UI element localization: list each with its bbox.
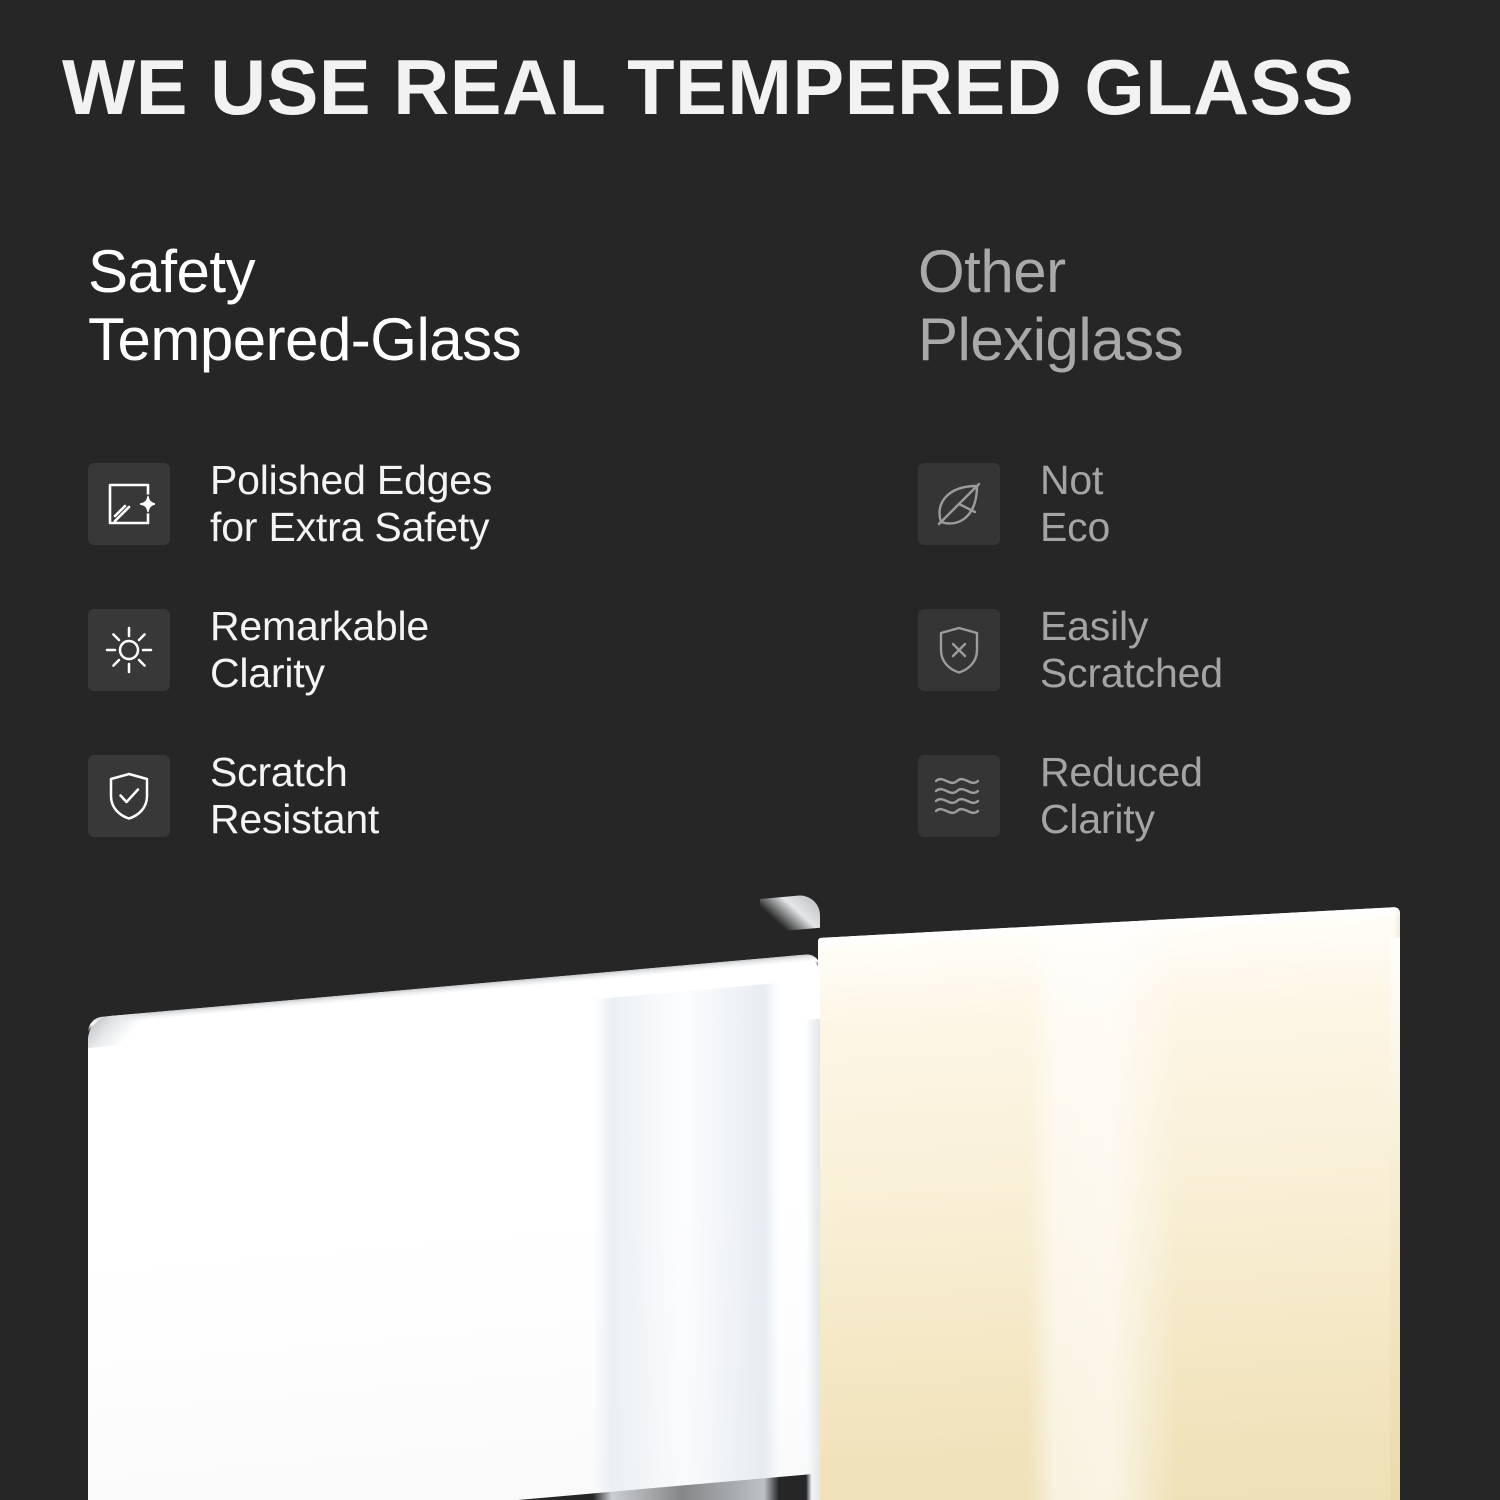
feature-label: Polished Edges for Extra Safety — [210, 457, 492, 551]
feature-row-remarkable-clarity: Remarkable Clarity — [88, 606, 848, 694]
tempered-glass-panel — [88, 953, 820, 1500]
sun-clarity-icon — [88, 609, 170, 691]
tempered-glass-panel-edge — [806, 1019, 820, 1500]
feature-list-right: Not Eco Easily Scratched — [918, 460, 1438, 898]
feature-label: Remarkable Clarity — [210, 603, 429, 697]
tempered-glass-right-bevel — [760, 894, 820, 933]
column-heading-right: Other Plexiglass — [918, 238, 1438, 374]
column-other-plexiglass: Other Plexiglass Not Eco — [918, 238, 1438, 374]
feature-row-polished-edges: Polished Edges for Extra Safety — [88, 460, 848, 548]
shield-check-icon — [88, 755, 170, 837]
feature-row-scratch-resistant: Scratch Resistant — [88, 752, 848, 840]
leaf-crossed-out-icon — [918, 463, 1000, 545]
feature-label: Reduced Clarity — [1040, 749, 1203, 843]
feature-list-left: Polished Edges for Extra Safety — [88, 460, 848, 898]
feature-row-reduced-clarity: Reduced Clarity — [918, 752, 1438, 840]
feature-label: Not Eco — [1040, 457, 1110, 551]
shield-x-icon — [918, 609, 1000, 691]
infographic-canvas: WE USE REAL TEMPERED GLASS Safety Temper… — [0, 0, 1500, 1500]
column-safety-tempered-glass: Safety Tempered-Glass Polished Edges for… — [88, 238, 848, 374]
plexiglass-panel — [818, 907, 1400, 1500]
feature-row-easily-scratched: Easily Scratched — [918, 606, 1438, 694]
feature-row-not-eco: Not Eco — [918, 460, 1438, 548]
column-heading-left: Safety Tempered-Glass — [88, 238, 848, 374]
plexiglass-panel-edge — [1390, 937, 1400, 1500]
feature-label: Easily Scratched — [1040, 603, 1223, 697]
page-title: WE USE REAL TEMPERED GLASS — [62, 42, 1445, 132]
glass-comparison-photo — [0, 860, 1500, 1500]
wavy-lines-blur-icon — [918, 755, 1000, 837]
glass-pane-sparkle-icon — [88, 463, 170, 545]
feature-label: Scratch Resistant — [210, 749, 379, 843]
